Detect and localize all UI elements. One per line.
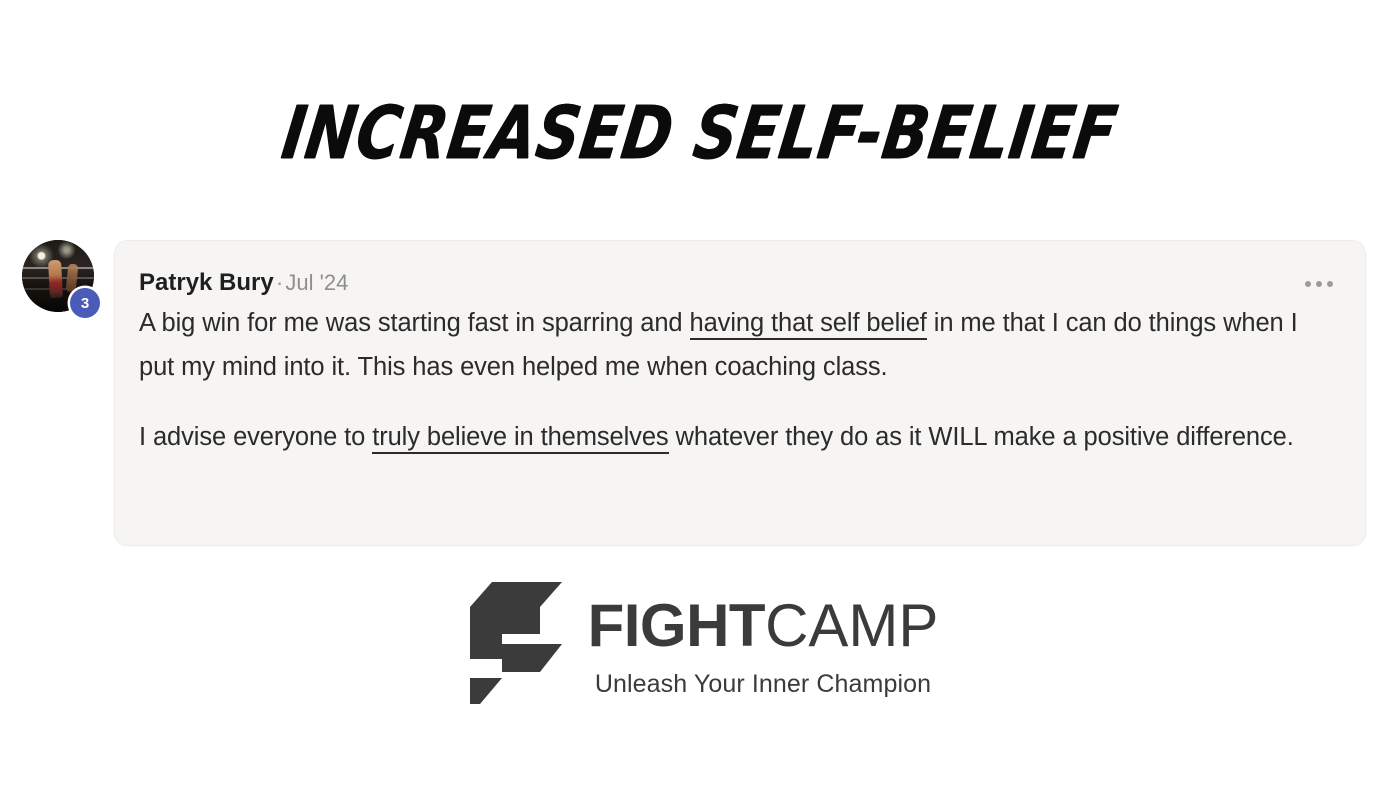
- headline-container: INCREASED SELF-BELIEF: [0, 78, 1400, 188]
- comment-date: Jul '24: [285, 270, 348, 295]
- ellipsis-dot: [1305, 281, 1311, 287]
- comment-paragraph: I advise everyone to truly believe in th…: [139, 416, 1335, 460]
- comment-emphasis: having that self belief: [690, 309, 927, 340]
- comment-text: I advise everyone to: [139, 423, 372, 451]
- brand-tagline: Unleash Your Inner Champion: [595, 670, 931, 699]
- comment-text: A big win for me was starting fast in sp…: [139, 309, 690, 337]
- page-title: INCREASED SELF-BELIEF: [278, 96, 1122, 169]
- meta-separator: ·: [276, 269, 284, 295]
- comment-emphasis: truly believe in themselves: [372, 423, 668, 454]
- testimonial-block: 3 Patryk Bury·Jul '24 A big win for me w…: [0, 236, 1400, 548]
- ellipsis-icon[interactable]: [1303, 273, 1335, 295]
- logo-text-block: FIGHTCAMP Unleash Your Inner Champion: [588, 582, 939, 699]
- comment-body: A big win for me was starting fast in sp…: [139, 302, 1335, 460]
- testimonial-card: Patryk Bury·Jul '24 A big win for me was…: [114, 240, 1366, 546]
- testimonial-card-header: Patryk Bury·Jul '24: [139, 269, 1335, 298]
- fightcamp-mark-icon: [462, 582, 562, 704]
- avatar-badge-count: 3: [70, 288, 100, 318]
- wordmark-fight: FIGHT: [588, 592, 765, 659]
- comment-paragraph: A big win for me was starting fast in sp…: [139, 302, 1335, 390]
- fightcamp-logo: FIGHTCAMP Unleash Your Inner Champion: [462, 582, 939, 704]
- brand-logo-container: FIGHTCAMP Unleash Your Inner Champion: [0, 575, 1400, 710]
- ellipsis-dot: [1316, 281, 1322, 287]
- ellipsis-dot: [1327, 281, 1333, 287]
- comment-meta: Patryk Bury·Jul '24: [139, 269, 348, 298]
- brand-wordmark: FIGHTCAMP: [588, 596, 939, 656]
- wordmark-camp: CAMP: [765, 592, 938, 659]
- comment-author: Patryk Bury: [139, 269, 274, 296]
- avatar-column: 3: [22, 240, 110, 328]
- comment-text: whatever they do as it WILL make a posit…: [669, 423, 1294, 451]
